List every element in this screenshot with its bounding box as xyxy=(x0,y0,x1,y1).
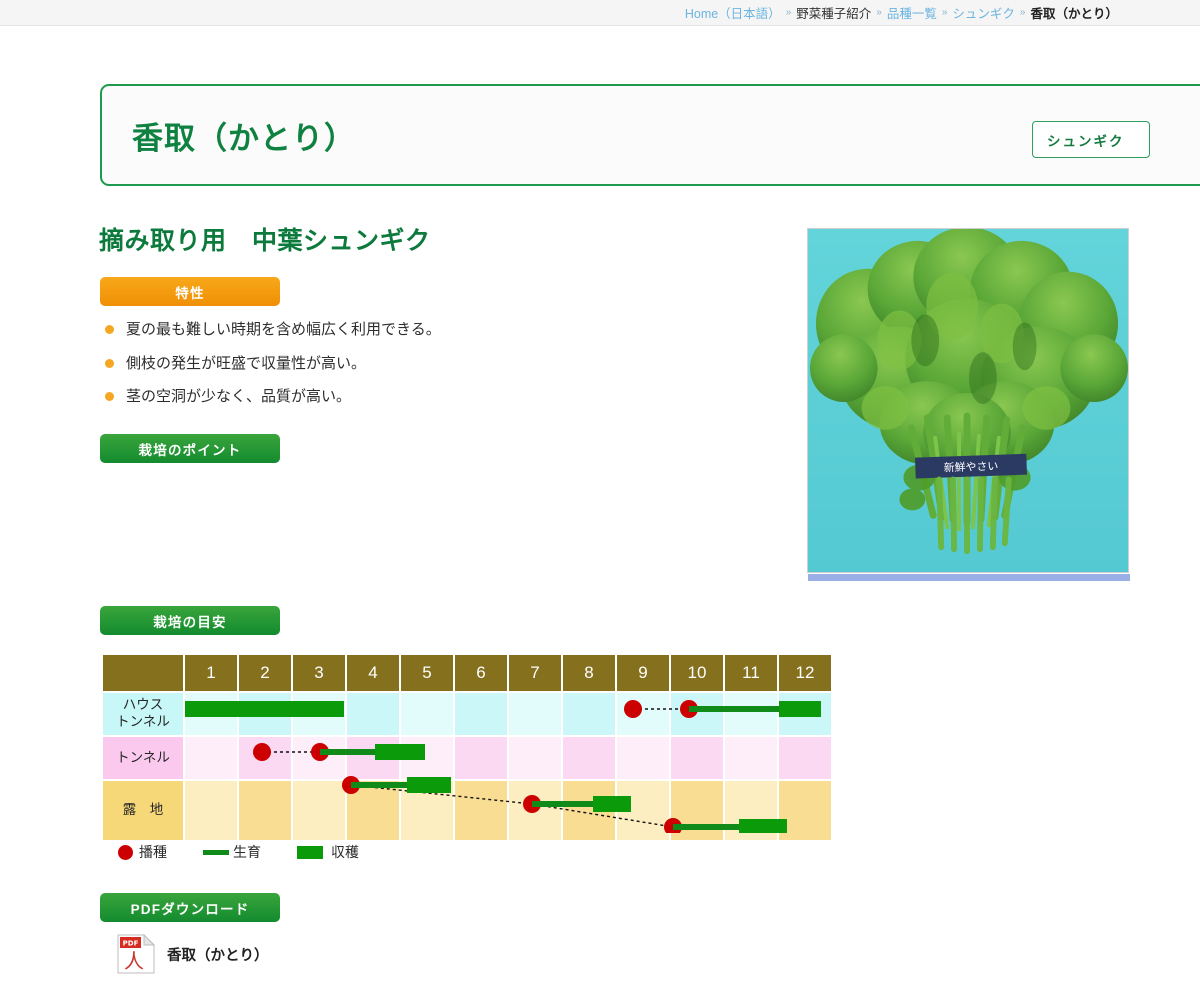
features-heading: 特性 xyxy=(100,277,280,306)
product-subtitle: 摘み取り用 中葉シュンギク xyxy=(99,221,431,257)
calendar-cell xyxy=(617,781,669,840)
month-header-10: 10 xyxy=(671,655,723,691)
svg-text:PDF: PDF xyxy=(123,940,139,948)
calendar-cell xyxy=(725,781,777,840)
breadcrumb-separator: » xyxy=(942,7,948,18)
shungiku-photo-illustration: 新鮮やさい xyxy=(808,229,1128,572)
month-header-9: 9 xyxy=(617,655,669,691)
calendar-corner-cell xyxy=(103,655,183,691)
breadcrumb-item-shungiku[interactable]: シュンギク xyxy=(952,3,1015,22)
breadcrumb-bar: Home（日本語） » 野菜種子紹介 » 品種一覧 » シュンギク » 香取（か… xyxy=(0,0,1200,26)
calendar-cell xyxy=(185,693,237,735)
feature-text: 側枝の発生が旺盛で収量性が高い。 xyxy=(126,355,366,372)
calendar-cell xyxy=(617,737,669,779)
month-header-1: 1 xyxy=(185,655,237,691)
breadcrumb-item-vegetable-seeds[interactable]: 野菜種子紹介 xyxy=(796,3,871,22)
calendar-cell xyxy=(347,693,399,735)
calendar-cell xyxy=(671,693,723,735)
breadcrumb-item-home[interactable]: Home（日本語） xyxy=(685,3,781,22)
table-row: トンネル xyxy=(103,737,831,779)
month-header-7: 7 xyxy=(509,655,561,691)
sowing-dot-icon xyxy=(118,845,133,860)
variety-category-chip[interactable]: シュンギク xyxy=(1032,121,1150,158)
table-header-row: 1 2 3 4 5 6 7 8 9 10 11 12 xyxy=(103,655,831,691)
list-item: 茎の空洞が少なく、品質が高い。 xyxy=(100,387,720,407)
calendar-legend: 播種 生育 収穫 xyxy=(118,842,395,862)
calendar-cell xyxy=(293,781,345,840)
month-header-4: 4 xyxy=(347,655,399,691)
calendar-cell xyxy=(239,781,291,840)
calendar-cell xyxy=(671,781,723,840)
growth-line-icon xyxy=(203,850,229,855)
svg-text:新鮮やさい: 新鮮やさい xyxy=(943,459,998,475)
month-header-8: 8 xyxy=(563,655,615,691)
calendar-heading: 栽培の目安 xyxy=(100,606,280,635)
breadcrumb-item-variety-list[interactable]: 品種一覧 xyxy=(887,3,937,22)
calendar-cell xyxy=(509,737,561,779)
calendar-cell xyxy=(401,693,453,735)
calendar-cell xyxy=(239,693,291,735)
cultivation-calendar-table: 1 2 3 4 5 6 7 8 9 10 11 12 ハウス トンネル xyxy=(101,653,833,842)
pdf-download-row[interactable]: PDF 人 香取（かとり） xyxy=(117,934,269,974)
month-header-6: 6 xyxy=(455,655,507,691)
pdf-file-label[interactable]: 香取（かとり） xyxy=(167,944,269,965)
month-header-11: 11 xyxy=(725,655,777,691)
row-label-open-field: 露 地 xyxy=(103,781,183,840)
calendar-cell xyxy=(401,781,453,840)
calendar-cell xyxy=(455,781,507,840)
breadcrumb-separator: » xyxy=(1020,7,1026,18)
product-photo: 新鮮やさい xyxy=(807,228,1129,573)
row-label-tunnel: トンネル xyxy=(103,737,183,779)
calendar-cell xyxy=(239,737,291,779)
list-item: 側枝の発生が旺盛で収量性が高い。 xyxy=(100,354,720,374)
calendar-cell xyxy=(509,781,561,840)
pdf-icon[interactable]: PDF 人 xyxy=(117,934,155,974)
calendar-cell xyxy=(779,781,831,840)
calendar-cell xyxy=(401,737,453,779)
breadcrumb: Home（日本語） » 野菜種子紹介 » 品種一覧 » シュンギク » 香取（か… xyxy=(685,3,1118,22)
feature-text: 茎の空洞が少なく、品質が高い。 xyxy=(126,388,351,405)
calendar-cell xyxy=(347,737,399,779)
bullet-icon xyxy=(105,359,114,368)
calendar-cell xyxy=(671,737,723,779)
calendar-cell xyxy=(563,781,615,840)
legend-item-sowing: 播種 xyxy=(118,842,167,862)
pdf-download-heading: PDFダウンロード xyxy=(100,893,280,922)
row-label-line: ハウス xyxy=(103,697,183,714)
calendar-cell xyxy=(293,693,345,735)
month-header-5: 5 xyxy=(401,655,453,691)
calendar-cell xyxy=(563,737,615,779)
features-list: 夏の最も難しい時期を含め幅広く利用できる。 側枝の発生が旺盛で収量性が高い。 茎… xyxy=(100,320,720,421)
month-header-3: 3 xyxy=(293,655,345,691)
calendar-cell xyxy=(455,737,507,779)
table-row: 露 地 xyxy=(103,781,831,840)
breadcrumb-separator: » xyxy=(786,7,792,18)
feature-text: 夏の最も難しい時期を含め幅広く利用できる。 xyxy=(126,321,441,338)
page-title: 香取（かとり） xyxy=(132,113,356,158)
pdf-file-icon: PDF 人 xyxy=(117,934,155,974)
month-header-12: 12 xyxy=(779,655,831,691)
photo-underline xyxy=(808,574,1130,581)
breadcrumb-separator: » xyxy=(876,7,882,18)
month-header-2: 2 xyxy=(239,655,291,691)
calendar-cell xyxy=(779,693,831,735)
list-item: 夏の最も難しい時期を含め幅広く利用できる。 xyxy=(100,320,720,340)
table-row: ハウス トンネル xyxy=(103,693,831,735)
calendar-cell xyxy=(455,693,507,735)
calendar-cell xyxy=(617,693,669,735)
row-label-house-tunnel: ハウス トンネル xyxy=(103,693,183,735)
calendar-cell xyxy=(779,737,831,779)
harvest-bar-icon xyxy=(297,846,323,859)
calendar-cell xyxy=(293,737,345,779)
calendar-cell xyxy=(563,693,615,735)
legend-item-growth: 生育 xyxy=(203,842,261,862)
calendar-cell xyxy=(347,781,399,840)
calendar-cell xyxy=(725,693,777,735)
row-label-line: トンネル xyxy=(103,714,183,731)
svg-text:人: 人 xyxy=(124,949,144,973)
calendar-cell xyxy=(725,737,777,779)
calendar-cell xyxy=(509,693,561,735)
cultivation-points-heading: 栽培のポイント xyxy=(100,434,280,463)
bullet-icon xyxy=(105,325,114,334)
breadcrumb-item-current: 香取（かとり） xyxy=(1030,3,1118,22)
calendar-cell xyxy=(185,737,237,779)
calendar-cell xyxy=(185,781,237,840)
legend-label-sowing: 播種 xyxy=(139,842,167,862)
bullet-icon xyxy=(105,392,114,401)
legend-item-harvest: 収穫 xyxy=(297,842,359,862)
legend-label-growth: 生育 xyxy=(233,842,261,862)
legend-label-harvest: 収穫 xyxy=(331,842,359,862)
